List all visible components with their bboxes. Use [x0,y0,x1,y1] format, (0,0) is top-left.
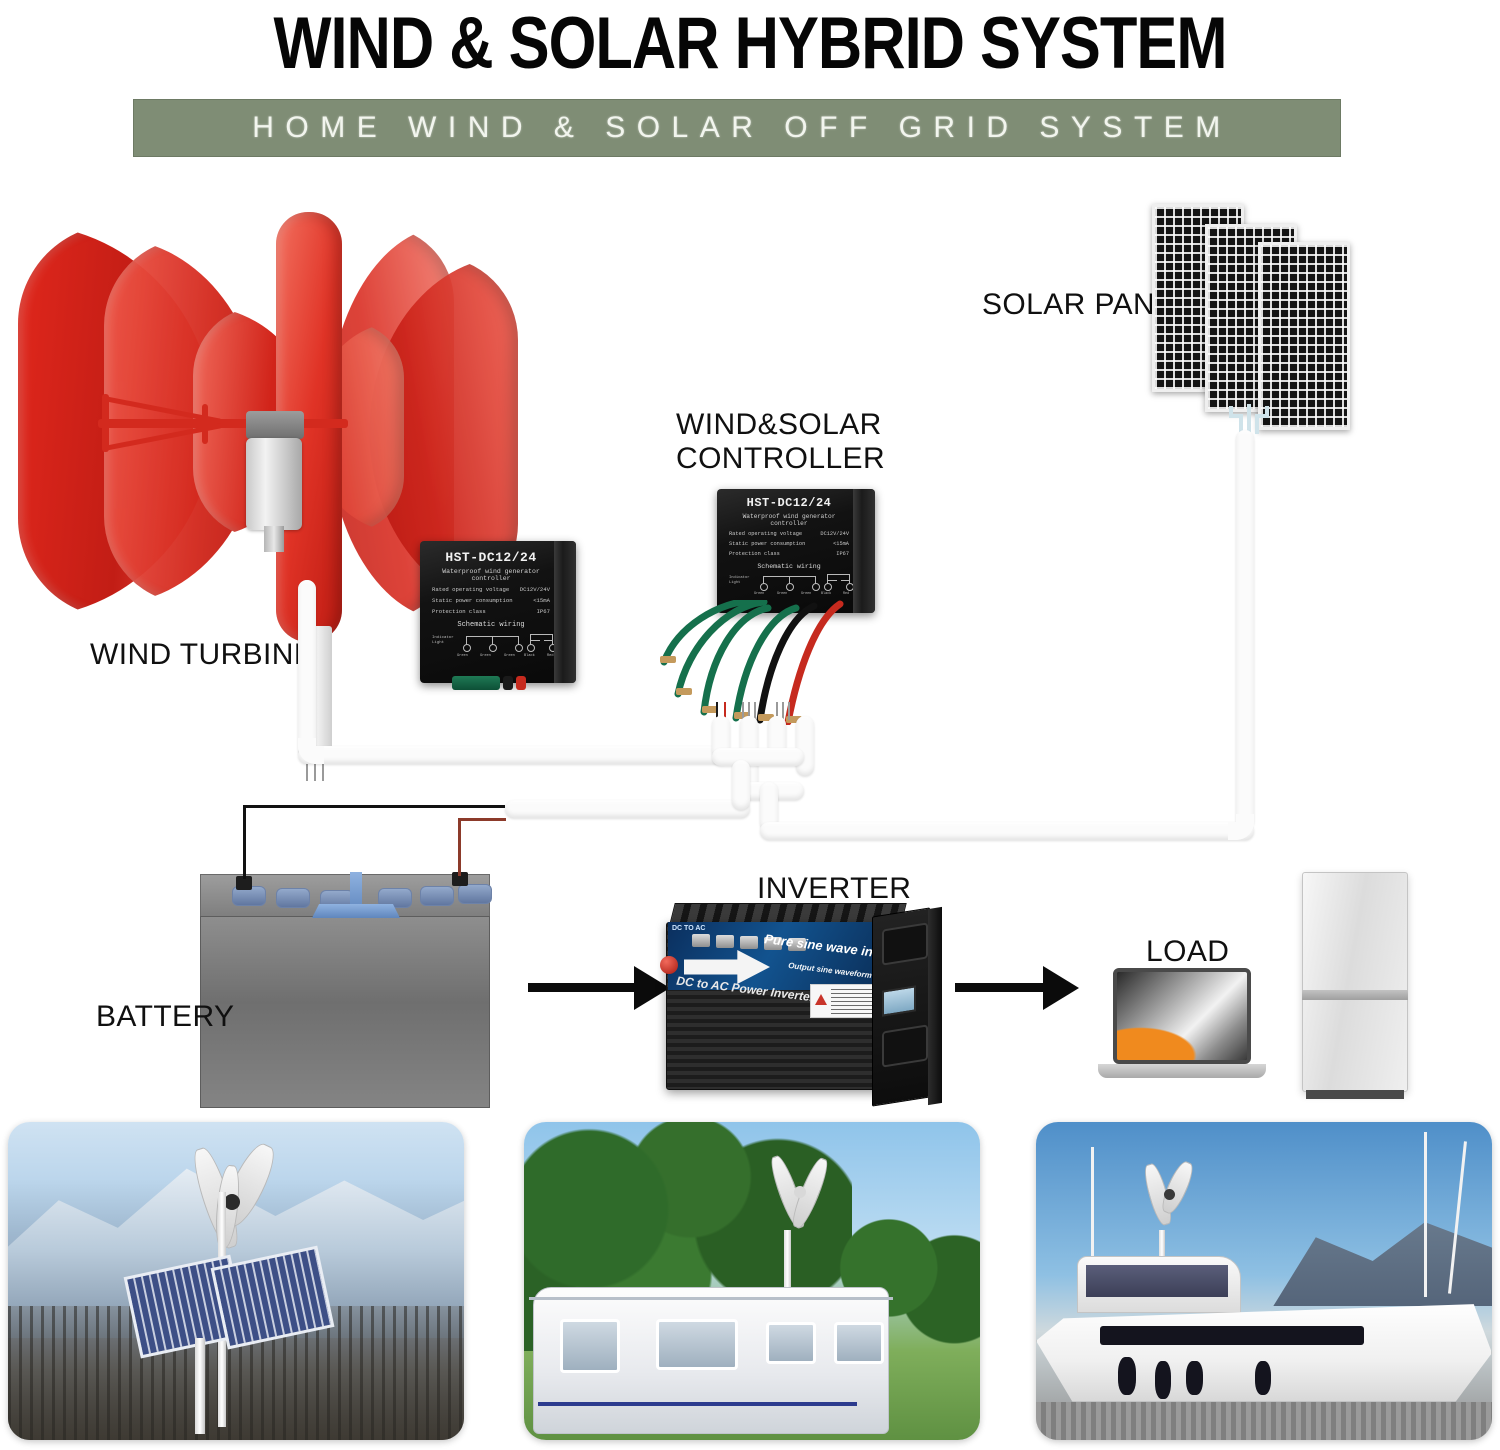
battery-lead-negative-run [243,805,505,808]
controller-spec-name: Static power consumption [432,597,513,604]
arrow-battery-to-inverter-shaft [528,983,636,992]
subtitle-text: HOME WIND & SOLAR OFF GRID SYSTEM [242,111,1232,145]
cable-turbine-horizontal [298,746,730,764]
refrigerator-base [1306,1090,1404,1099]
controller-spec-value: IP67 [537,608,550,615]
wind-turbine-label: WIND TURBINE [90,638,314,672]
controller-schematic-title-left: Schematic wiring [432,621,550,629]
photo-yacht-marina [1036,1122,1492,1440]
controller-label-line1: WIND&SOLAR [676,408,882,442]
controller-schematic-left: IndicatorLight Green Green Green Black R… [432,632,550,662]
battery-lead-negative [243,805,246,879]
battery-lead-positive-run [458,818,506,821]
controller-model-right: HST-DC12/24 [729,496,849,510]
controller-spec-value: <15mA [533,597,550,604]
inverter-ac-socket-top [882,922,928,965]
refrigerator [1302,872,1408,1092]
controller-subtitle-right: Waterproof wind generator controller [729,513,849,527]
inverter-label: INVERTER [757,872,911,906]
turbine-generator [246,438,302,530]
battery-cap [276,888,310,908]
cable-turbine-vertical [298,580,316,758]
inverter-power-knob [660,956,678,974]
battery-label: BATTERY [96,1000,234,1034]
battery-lead-positive [458,818,461,876]
page-title: WIND & SOLAR HYBRID SYSTEM [8,2,1493,86]
controller-schematic-title-right: Schematic wiring [729,563,849,570]
cable-bus-upper [712,748,804,766]
turbine-hub [246,411,304,439]
controller-wire-green-left [452,676,500,690]
laptop-base [1098,1064,1266,1078]
inverter-waveform-text: Output sine waveform [788,961,872,980]
arrow-inverter-to-load-shaft [955,983,1045,992]
battery-cap [458,884,492,904]
cable-solar-riser [1236,430,1254,830]
inverter-lcd-display [882,985,916,1016]
battery-cap [420,886,454,906]
laptop-screen [1113,968,1251,1064]
cable-to-battery [505,800,750,818]
arrow-inverter-to-load-head [1043,966,1079,1010]
wind-solar-controller-device: HST-DC12/24 Waterproof wind generator co… [717,489,875,613]
battery-body [200,916,490,1108]
turbine-generator-neck [264,526,284,552]
turbine-hub-spokes [98,392,358,454]
controller-wire-black-left [503,676,513,690]
controller-wire-red-left [516,676,526,690]
photo-rv-caravan [524,1122,980,1440]
controller-model-left: HST-DC12/24 [432,550,550,565]
controller-spec-value: <15mA [833,541,849,547]
controller-spec-value: DC12V/24V [820,531,849,537]
controller-spec-value: IP67 [836,551,849,557]
wind-controller-device-left: HST-DC12/24 Waterproof wind generator co… [420,541,576,683]
battery-bridge [312,904,400,918]
inverter-side-fin [928,907,942,1105]
controller-subtitle-left: Waterproof wind generator controller [432,568,550,582]
controller-spec-name: Protection class [432,608,486,615]
photo-snow-mountain [8,1122,464,1440]
controller-label-line2: CONTROLLER [676,442,885,476]
controller-spec-name: Protection class [729,551,780,557]
inverter-dc-ac-badge: DC TO AC [672,925,705,932]
controller-spec-name: Rated operating voltage [432,586,509,593]
subtitle-banner: HOME WIND & SOLAR OFF GRID SYSTEM [133,99,1341,157]
refrigerator-handle [1302,990,1408,1000]
cable-stub-4 [796,716,814,776]
cable-battery-drop [732,760,750,810]
controller-spec-name: Rated operating voltage [729,531,802,537]
cable-solar-horizontal [760,822,1254,840]
controller-spec-value: DC12V/24V [520,586,550,593]
controller-spec-name: Static power consumption [729,541,805,547]
load-label: LOAD [1146,935,1229,969]
inverter-ac-socket-bottom [882,1024,928,1067]
controller-schematic-right: IndicatorLight Green Green Green Black R… [729,573,849,603]
